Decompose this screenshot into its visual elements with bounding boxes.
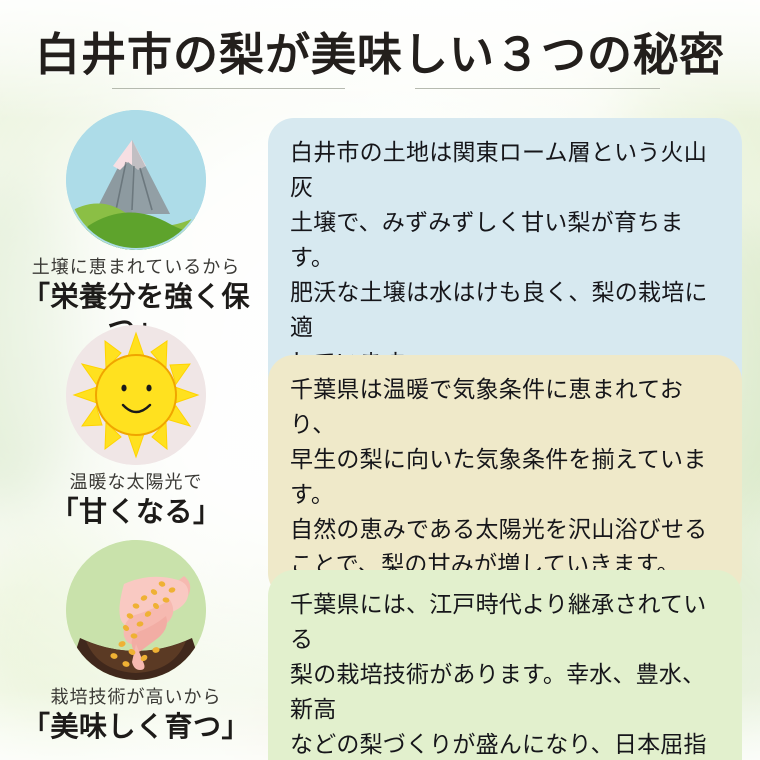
caption-small-cultivation: 栽培技術が高いから [8,686,264,709]
bubble-line: などの梨づくりが盛んになり、日本屈指の [290,728,720,760]
bubble-line: 千葉県は温暖で気象条件に恵まれており、 [290,373,720,443]
secret-row-sunlight: 温暖な太陽光で 「甘くなる」 千葉県は温暖で気象条件に恵まれており、 早生の梨に… [0,325,760,547]
bubble-line: 白井市の土地は関東ローム層という火山灰 [290,136,720,206]
mountain-icon [66,110,206,250]
pear-secrets-infographic: 白井市の梨が美味しい３つの秘密 土壌に恵まれているから [0,0,760,760]
title-divider-left [112,88,345,89]
page-title: 白井市の梨が美味しい３つの秘密 [0,18,760,83]
caption-small-soil: 土壌に恵まれているから [8,256,264,279]
bubble-line: 千葉県には、江戸時代より継承されている [290,588,720,658]
caption-big-sunlight: 「甘くなる」 [8,496,264,530]
bubble-line: 早生の梨に向いた気象条件を揃えています。 [290,443,720,513]
caption-big-cultivation: 「美味しく育つ」 [8,711,264,745]
hand-sowing-seeds-icon [66,540,206,680]
text-bubble-cultivation: 千葉県には、江戸時代より継承されている 梨の栽培技術があります。幸水、豊水、新高… [268,570,742,760]
bubble-line: 梨の栽培技術があります。幸水、豊水、新高 [290,658,720,728]
secret-row-soil: 土壌に恵まれているから 「栄養分を強く保つ」 白井市の土地は関東ローム層という火… [0,110,760,325]
icon-column-soil: 土壌に恵まれているから 「栄養分を強く保つ」 [8,110,264,348]
secret-row-cultivation: 栽培技術が高いから 「美味しく育つ」 千葉県には、江戸時代より継承されている 梨… [0,540,760,750]
caption-small-sunlight: 温暖な太陽光で [8,471,264,494]
icon-column-cultivation: 栽培技術が高いから 「美味しく育つ」 [8,540,264,744]
header: 白井市の梨が美味しい３つの秘密 [0,0,760,102]
title-divider-right [415,88,660,89]
icon-column-sunlight: 温暖な太陽光で 「甘くなる」 [8,325,264,529]
bubble-line: 土壌で、みずみずしく甘い梨が育ちます。 [290,206,720,276]
sun-icon [66,325,206,465]
